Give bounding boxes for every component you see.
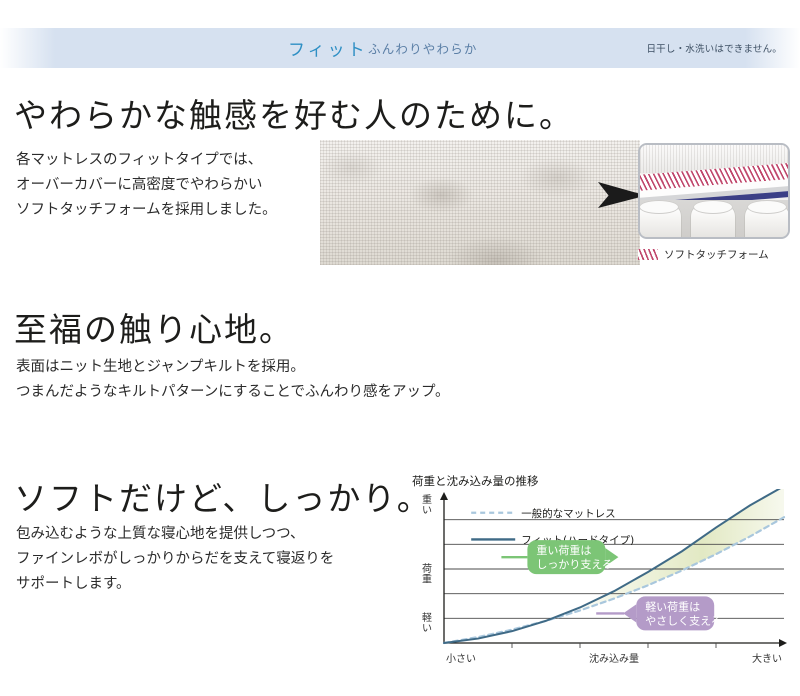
hatch-swatch-icon [638,249,658,260]
chart-annotation-label: しっかり支える [536,558,613,571]
header-title: フィット [288,36,368,61]
section-2-body-line: つまんだようなキルトパターンにすることでふんわり感をアップ。 [16,380,450,405]
chart-plot: 一般的なマットレスフィット(ハードタイプ)重い荷重はしっかり支える軽い荷重はやさ… [412,489,796,677]
cross-section-inset-image [638,143,790,239]
section-1-body: 各マットレスのフィットタイプでは、 オーバーカバーに高密度でやわらかい ソフトタ… [16,148,277,223]
section-3-body: 包み込むような上質な寝心地を提供しつつ、 ファインレボがしっかりからだを支えて寝… [16,522,334,597]
header-subtitle: ふんわりやわらか [368,39,478,58]
chart-annotation-label: 軽い荷重は [645,599,700,613]
section-1-heading: やわらかな触感を好む人のために。 [14,89,574,137]
section-1-body-line: ソフトタッチフォームを採用しました。 [16,198,277,223]
section-3-heading: ソフトだけど、しっかり。 [14,472,432,520]
section-3-body-line: サポートします。 [16,572,334,597]
spring-coil [638,207,682,239]
cross-section-legend-label: ソフトタッチフォーム [664,247,769,262]
y-axis-title: 荷重 [422,563,432,586]
cross-section-legend: ソフトタッチフォーム [638,247,769,262]
section-2-body: 表面はニット生地とジャンプキルトを採用。 つまんだようなキルトパターンにすること… [16,355,450,405]
y-axis-bottom-label: 軽い [422,612,432,635]
section-2-body-line: 表面はニット生地とジャンプキルトを採用。 [16,355,450,380]
y-axis-top-label: 重い [422,493,432,517]
section-1-body-line: 各マットレスのフィットタイプでは、 [16,148,277,173]
chart-annotation-label: 重い荷重は [536,543,591,557]
spring-base-layer [640,200,788,237]
spring-coil [744,207,790,239]
chart-legend-label: 一般的なマットレス [521,507,616,520]
section-2-heading: 至福の触り心地。 [14,303,294,351]
chart-title: 荷重と沈み込み量の推移 [412,473,539,489]
care-note: 日干し・水洗いはできません。 [646,41,782,55]
section-3-body-line: ファインレボがしっかりからだを支えて寝返りを [16,547,334,572]
section-3-body-line: 包み込むような上質な寝心地を提供しつつ、 [16,522,334,547]
header: フィット ふんわりやわらか 日干し・水洗いはできません。 [0,28,800,68]
spring-coil [690,207,736,239]
chart-annotation-label: やさしく支える [645,614,722,627]
mattress-surface-photo [320,140,640,265]
section-1-body-line: オーバーカバーに高密度でやわらかい [16,173,277,198]
x-axis-right-label: 大きい [752,652,782,665]
load-sinkage-chart: 荷重と沈み込み量の推移 一般的なマットレスフィット(ハードタイプ)重い荷重はしっ… [412,473,796,678]
x-axis-title: 沈み込み量 [589,652,639,665]
x-axis-left-label: 小さい [446,653,476,665]
